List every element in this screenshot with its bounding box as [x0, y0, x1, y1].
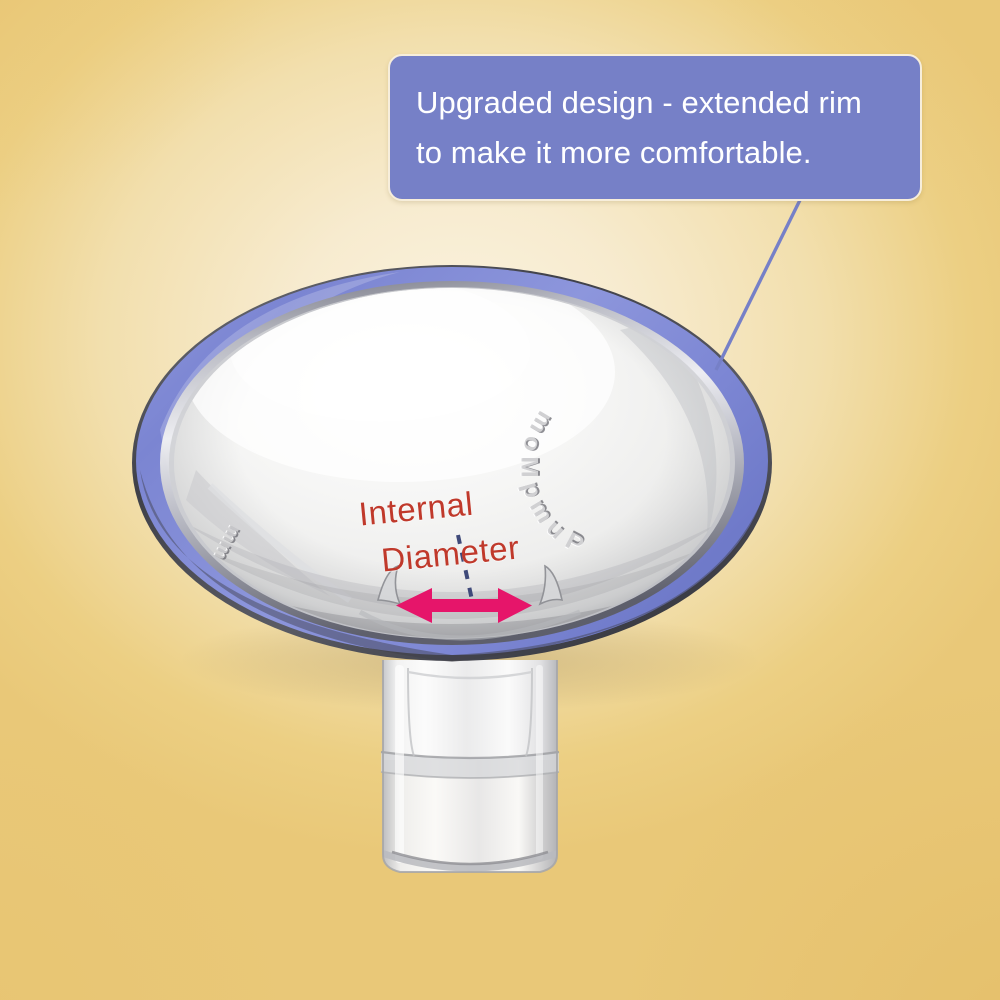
internal-diameter-line1: Internal: [357, 485, 475, 533]
product-feature-image: PumpMom mm Internal Diameter Upgraded de…: [0, 0, 1000, 1000]
internal-diameter-line2: Diameter: [361, 524, 522, 587]
callout-box: Upgraded design - extended rim to make i…: [388, 54, 922, 201]
callout-text: Upgraded design - extended rim to make i…: [416, 78, 894, 178]
brand-emboss-char: M: [515, 457, 544, 478]
brand-emboss: PumpMom: [540, 392, 690, 542]
internal-diameter-label: Internal Diameter: [352, 428, 526, 635]
